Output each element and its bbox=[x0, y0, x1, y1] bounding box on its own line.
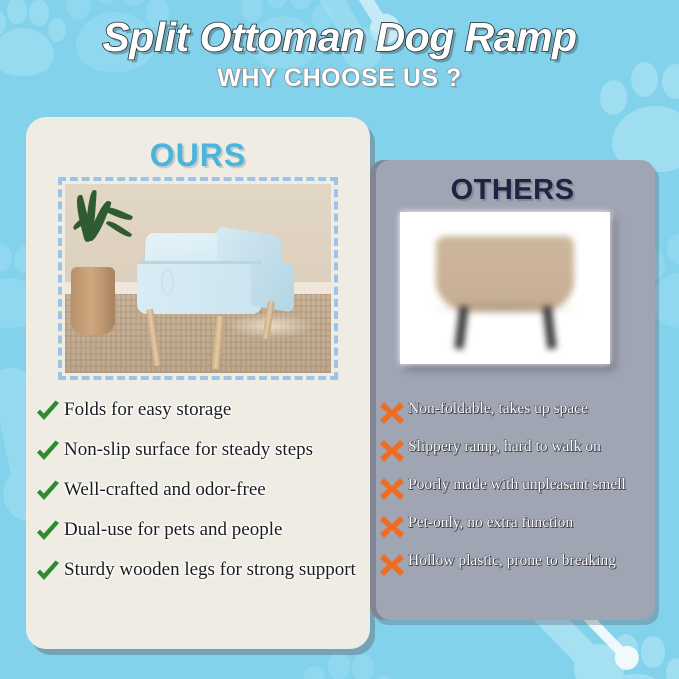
green-check-icon bbox=[34, 519, 62, 545]
list-item: Hollow plastic, prone to breaking bbox=[378, 552, 649, 578]
page-subtitle: WHY CHOOSE US ? bbox=[0, 64, 679, 93]
list-item: Pet-only, no extra function bbox=[378, 514, 649, 540]
list-item-label: Sturdy wooden legs for strong support bbox=[64, 559, 356, 581]
list-item: Dual-use for pets and people bbox=[34, 519, 356, 545]
infographic-canvas: Split Ottoman Dog Ramp WHY CHOOSE US ? O… bbox=[0, 0, 679, 679]
list-item-label: Well-crafted and odor-free bbox=[64, 479, 266, 501]
header: Split Ottoman Dog Ramp WHY CHOOSE US ? bbox=[0, 0, 679, 93]
list-item: Folds for easy storage bbox=[34, 399, 356, 425]
green-check-icon bbox=[34, 439, 62, 465]
orange-cross-icon bbox=[378, 438, 406, 464]
green-check-icon bbox=[34, 559, 62, 585]
orange-cross-icon bbox=[378, 476, 406, 502]
list-item: Sturdy wooden legs for strong support bbox=[34, 559, 356, 585]
list-item: Non-foldable, takes up space bbox=[378, 400, 649, 426]
list-item-label: Hollow plastic, prone to breaking bbox=[408, 552, 616, 571]
list-item-label: Poorly made with unpleasant smell bbox=[408, 476, 626, 495]
others-panel-title: OTHERS bbox=[370, 160, 655, 207]
orange-cross-icon bbox=[378, 514, 406, 540]
list-item: Poorly made with unpleasant smell bbox=[378, 476, 649, 502]
list-item-label: Slippery ramp, hard to walk on bbox=[408, 438, 601, 457]
others-product-photo-frame bbox=[400, 212, 610, 364]
bench-seat-shadow bbox=[429, 300, 580, 315]
others-product-photo bbox=[400, 212, 610, 364]
list-item-label: Pet-only, no extra function bbox=[408, 514, 573, 533]
ottoman-pull-tab bbox=[161, 269, 174, 295]
list-item: Non-slip surface for steady steps bbox=[34, 439, 356, 465]
list-item: Well-crafted and odor-free bbox=[34, 479, 356, 505]
ours-feature-list: Folds for easy storage Non-slip surface … bbox=[26, 399, 370, 599]
ottoman-body bbox=[137, 263, 262, 314]
list-item-label: Non-slip surface for steady steps bbox=[64, 439, 313, 461]
ours-product-photo-frame bbox=[58, 177, 338, 380]
ottoman-split-seam bbox=[139, 261, 261, 264]
paw-print-icon bbox=[300, 648, 396, 679]
photo-cord bbox=[75, 328, 105, 348]
green-check-icon bbox=[34, 479, 62, 505]
orange-cross-icon bbox=[378, 552, 406, 578]
potted-plant-pot bbox=[71, 267, 115, 335]
ours-product-photo bbox=[65, 184, 331, 373]
list-item: Slippery ramp, hard to walk on bbox=[378, 438, 649, 464]
orange-cross-icon bbox=[378, 400, 406, 426]
others-panel: OTHERS Non-foldable, takes up space Sl bbox=[370, 160, 655, 620]
page-title: Split Ottoman Dog Ramp bbox=[0, 16, 679, 59]
others-drawback-list: Non-foldable, takes up space Slippery ra… bbox=[370, 400, 655, 590]
green-check-icon bbox=[34, 399, 62, 425]
ours-panel-title: OURS bbox=[26, 117, 370, 174]
ours-panel: OURS bbox=[26, 117, 370, 649]
list-item-label: Folds for easy storage bbox=[64, 399, 231, 421]
list-item-label: Dual-use for pets and people bbox=[64, 519, 282, 541]
list-item-label: Non-foldable, takes up space bbox=[408, 400, 588, 419]
